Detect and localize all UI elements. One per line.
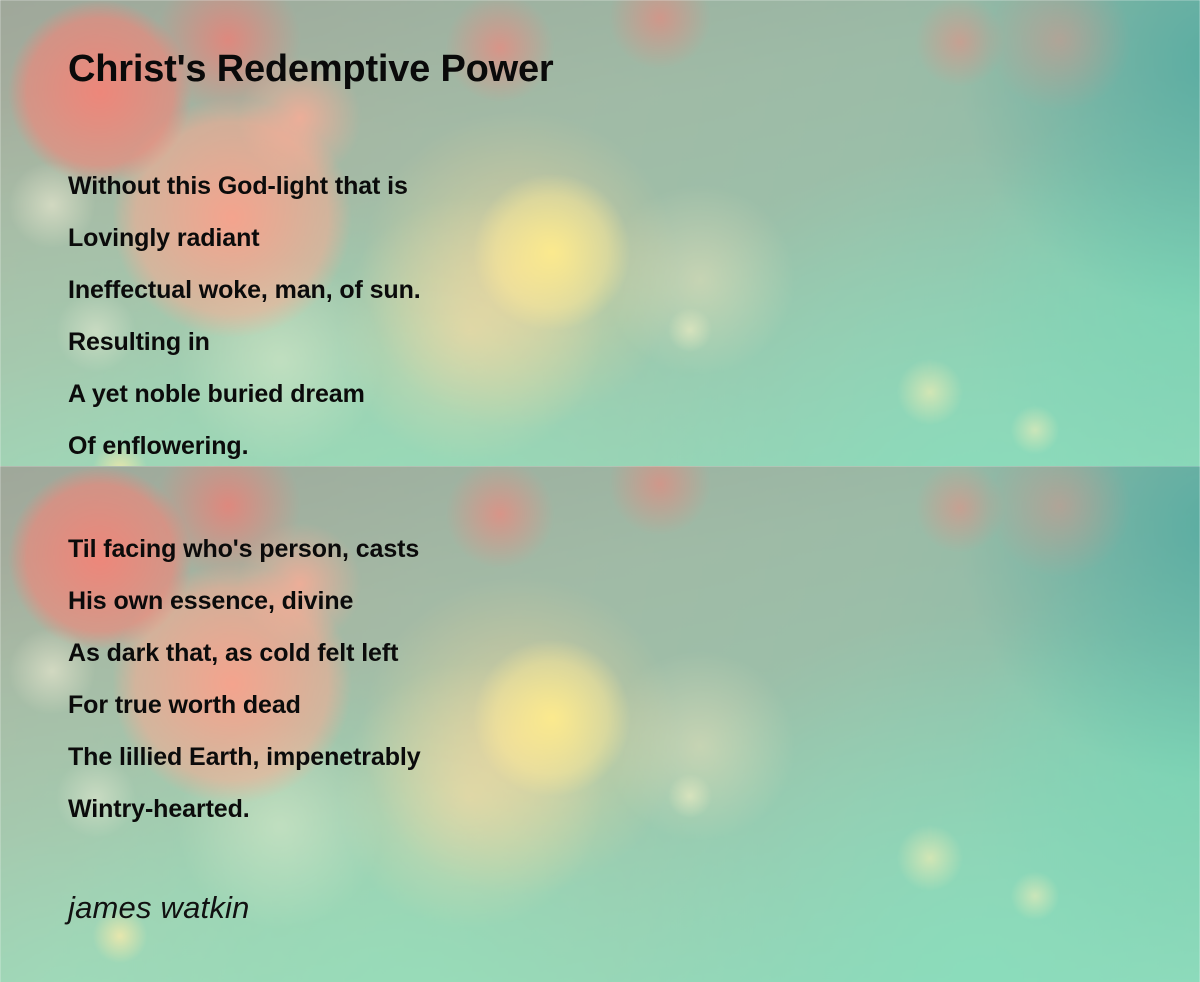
poem-line: Til facing who's person, casts [68, 523, 421, 575]
poem-line: Without this God-light that is [68, 160, 421, 212]
poem-line: As dark that, as cold felt left [68, 627, 421, 679]
poem-line: Lovingly radiant [68, 212, 421, 264]
poem-line: Of enflowering. [68, 420, 421, 472]
page-title: Christ's Redemptive Power [68, 48, 554, 91]
poem-line: His own essence, divine [68, 575, 421, 627]
poem-line: A yet noble buried dream [68, 368, 421, 420]
poem-line: Wintry-hearted. [68, 783, 421, 835]
author-signature: james watkin [68, 890, 250, 926]
stanza-2: Til facing who's person, casts His own e… [68, 523, 421, 835]
poem-line: For true worth dead [68, 679, 421, 731]
poem-line: Ineffectual woke, man, of sun. [68, 264, 421, 316]
poem-line: Resulting in [68, 316, 421, 368]
poem-line: The lillied Earth, impenetrably [68, 731, 421, 783]
stanza-1: Without this God-light that is Lovingly … [68, 160, 421, 472]
poem-content: Christ's Redemptive Power Without this G… [0, 0, 1200, 982]
poem-image-card: Christ's Redemptive Power Without this G… [0, 0, 1200, 982]
